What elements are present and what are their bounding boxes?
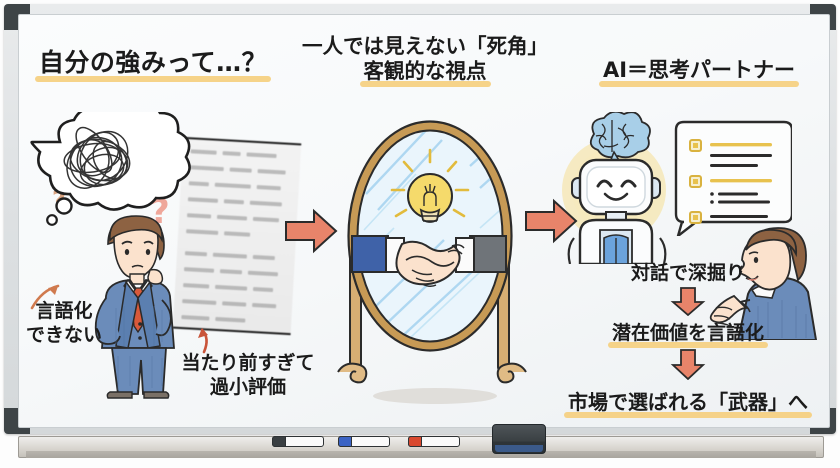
whiteboard-infographic: 自分の強みって…？ ? ? ? ? ?	[0, 0, 840, 468]
standing-mirror	[330, 118, 535, 413]
red-marker-cap	[408, 436, 422, 448]
tray-lip	[26, 451, 816, 458]
whiteboard-eraser[interactable]	[492, 424, 546, 454]
black-marker[interactable]	[272, 436, 324, 447]
arrow-mirror-to-ai-icon	[524, 198, 578, 244]
arrow-problem-to-mirror-icon	[284, 208, 338, 254]
arrow-step-1-to-2-icon	[670, 286, 706, 316]
black-marker-cap	[272, 436, 286, 448]
pointer-to-document-icon	[184, 316, 224, 356]
step-verbalize: 潜在価値を言語化	[558, 318, 818, 345]
panel-ai-title: AI＝思考パートナー	[570, 58, 828, 84]
thought-bubble	[18, 112, 208, 227]
blue-marker[interactable]	[338, 436, 390, 447]
step-weapon: 市場で選ばれる「武器」へ	[558, 386, 818, 415]
caption-cannot-verbalize: 言語化 できない	[8, 300, 120, 348]
brain-icon	[591, 112, 650, 157]
red-marker[interactable]	[408, 436, 460, 447]
checklist-speech-bubble	[668, 118, 792, 236]
caption-undervalued: 当たり前すぎて 過小評価	[158, 352, 338, 400]
panel-problem-title: 自分の強みって…？	[28, 48, 278, 79]
step-dialogue: 対話で深掘り	[558, 258, 818, 285]
arrow-step-2-to-3-icon	[670, 348, 706, 380]
blue-marker-cap	[338, 436, 352, 448]
panel-mirror-title: 一人では見えない「死角」 客観的な視点	[300, 34, 550, 84]
